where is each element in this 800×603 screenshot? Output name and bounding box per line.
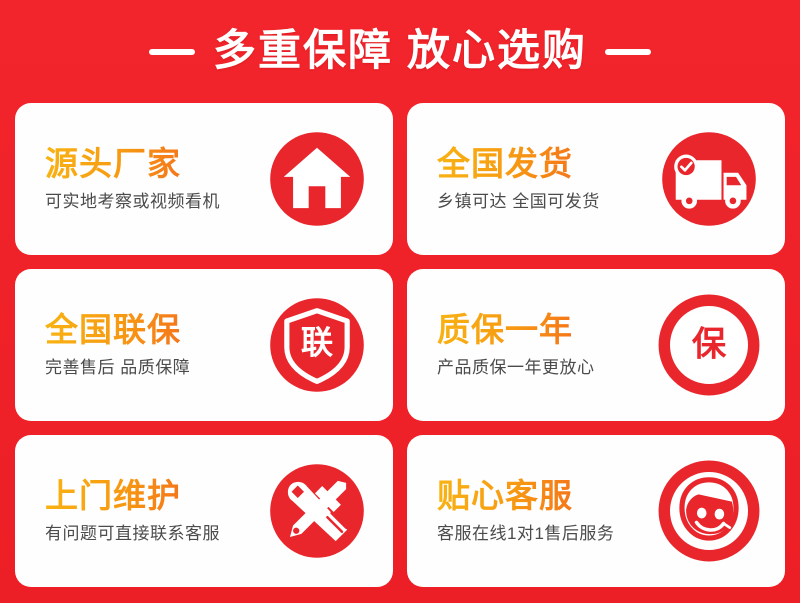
shield-bao-icon: 保 <box>653 289 765 401</box>
header-rule-right-icon <box>605 49 651 55</box>
card-subtitle: 客服在线1对1售后服务 <box>437 524 653 544</box>
delivery-truck-icon <box>653 123 765 235</box>
card-title: 贴心客服 <box>437 477 653 515</box>
card-text-block: 全国发货 乡镇可达 全国可发货 <box>437 145 653 212</box>
card-title: 全国联保 <box>45 311 261 349</box>
guarantee-card-grid: 源头厂家 可实地考察或视频看机 全国发货 乡镇可达 全国可发货 <box>0 103 800 603</box>
shield-icon-glyph: 联 <box>301 323 334 361</box>
guarantee-card-source-factory[interactable]: 源头厂家 可实地考察或视频看机 <box>15 103 393 255</box>
card-subtitle: 完善售后 品质保障 <box>45 358 261 378</box>
card-subtitle: 乡镇可达 全国可发货 <box>437 192 653 212</box>
card-title: 质保一年 <box>437 311 653 349</box>
shield-icon-glyph: 保 <box>692 324 727 364</box>
card-title: 源头厂家 <box>45 145 261 183</box>
guarantee-card-one-year-warranty[interactable]: 质保一年 产品质保一年更放心 保 <box>407 269 785 421</box>
guarantee-card-nationwide-shipping[interactable]: 全国发货 乡镇可达 全国可发货 <box>407 103 785 255</box>
card-text-block: 质保一年 产品质保一年更放心 <box>437 311 653 378</box>
shield-lian-icon: 联 <box>261 289 373 401</box>
card-title: 全国发货 <box>437 145 653 183</box>
card-subtitle: 可实地考察或视频看机 <box>45 192 261 212</box>
card-title: 上门维护 <box>45 477 261 515</box>
card-text-block: 贴心客服 客服在线1对1售后服务 <box>437 477 653 544</box>
guarantee-card-customer-service[interactable]: 贴心客服 客服在线1对1售后服务 <box>407 435 785 587</box>
card-text-block: 上门维护 有问题可直接联系客服 <box>45 477 261 544</box>
customer-service-agent-icon <box>653 455 765 567</box>
guarantee-card-onsite-maintenance[interactable]: 上门维护 有问题可直接联系客服 <box>15 435 393 587</box>
card-text-block: 全国联保 完善售后 品质保障 <box>45 311 261 378</box>
wrench-screwdriver-icon <box>261 455 373 567</box>
card-subtitle: 有问题可直接联系客服 <box>45 524 261 544</box>
guarantee-card-national-warranty[interactable]: 全国联保 完善售后 品质保障 联 <box>15 269 393 421</box>
house-icon <box>261 123 373 235</box>
banner-header: 多重保障 放心选购 <box>0 0 800 103</box>
card-subtitle: 产品质保一年更放心 <box>437 358 653 378</box>
header-rule-left-icon <box>149 49 195 55</box>
banner-title: 多重保障 放心选购 <box>213 30 587 73</box>
promo-banner: 多重保障 放心选购 源头厂家 可实地考察或视频看机 全国发货 乡镇可达 全国可发… <box>0 0 800 603</box>
card-text-block: 源头厂家 可实地考察或视频看机 <box>45 145 261 212</box>
